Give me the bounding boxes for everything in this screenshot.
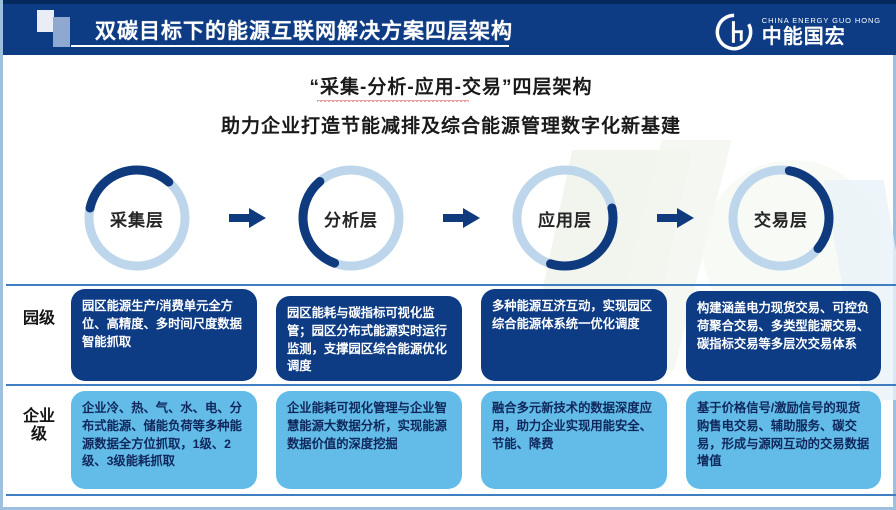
card-enterprise-trading[interactable]: 基于价格信号/激励信号的现货购售电交易、辅助服务、碳交易，形成与源网互动的交易数… (686, 391, 881, 489)
card-park-analysis[interactable]: 园区能耗与碳指标可视化监管；园区分布式能源实时运行监测，支撑园区综合能源优化调度 (276, 296, 462, 381)
row-label-park: 园级 (17, 310, 61, 328)
arrow-right-icon (229, 206, 267, 230)
flow-node-label: 分析层 (295, 162, 407, 274)
flow-node-label: 采集层 (81, 162, 193, 274)
flow-node-label: 交易层 (725, 162, 837, 274)
logo-english-text: CHINA ENERGY GUO HONG (762, 17, 881, 25)
logo-chinese-text: 中能国宏 (762, 27, 881, 47)
brand-logo: CHINA ENERGY GUO HONG 中能国宏 (714, 10, 881, 54)
slide-canvas: 双碳目标下的能源互联网解决方案四层架构 CHINA ENERGY GUO HON… (0, 0, 896, 510)
page-title: 双碳目标下的能源互联网解决方案四层架构 (95, 15, 513, 45)
company-mark-icon (714, 12, 754, 52)
subtitle-block: “采集-分析-应用-交易”四层架构 助力企业打造节能减排及综合能源管理数字化新基… (3, 72, 896, 138)
flow-node-trading[interactable]: 交易层 (725, 162, 837, 274)
flow-node-collection[interactable]: 采集层 (81, 162, 193, 274)
divider-bottom (6, 494, 896, 496)
flow-node-application[interactable]: 应用层 (509, 162, 621, 274)
row-label-enterprise: 企业级 (17, 408, 61, 444)
card-park-collection[interactable]: 园区能源生产/消费单元全方位、高精度、多时间尺度数据智能抓取 (71, 289, 257, 381)
card-enterprise-collection[interactable]: 企业冷、热、气、水、电、分布式能源、储能负荷等多种能源数据全方位抓取，1级、2级… (71, 391, 257, 489)
card-park-application[interactable]: 多种能源互济互动，实现园区综合能源体系统一优化调度 (481, 289, 667, 381)
arrow-right-icon (657, 206, 695, 230)
subtitle-line-1-text: “采集-分析-应用-交易”四层架构 (310, 77, 593, 98)
card-enterprise-analysis[interactable]: 企业能耗可视化管理与企业智慧能源大数据分析，实现能源数据价值的深度挖掘 (276, 391, 462, 489)
divider-top (6, 284, 896, 286)
divider-middle (6, 384, 896, 386)
title-underline (71, 45, 509, 47)
subtitle-line-2: 助力企业打造节能减排及综合能源管理数字化新基建 (3, 111, 896, 138)
flow-node-analysis[interactable]: 分析层 (295, 162, 407, 274)
flow-diagram: 采集层 分析层 应用层 (3, 162, 896, 274)
flow-node-label: 应用层 (509, 162, 621, 274)
arrow-right-icon (443, 206, 481, 230)
card-enterprise-application[interactable]: 融合多元新技术的数据深度应用，助力企业实现用能安全、节能、降费 (481, 391, 667, 489)
card-park-trading[interactable]: 构建涵盖电力现货交易、可控负荷聚合交易、多类型能源交易、碳指标交易等多层次交易体… (686, 291, 881, 381)
subtitle-line-1: “采集-分析-应用-交易”四层架构 (310, 72, 593, 99)
spellcheck-squiggle (317, 98, 469, 102)
